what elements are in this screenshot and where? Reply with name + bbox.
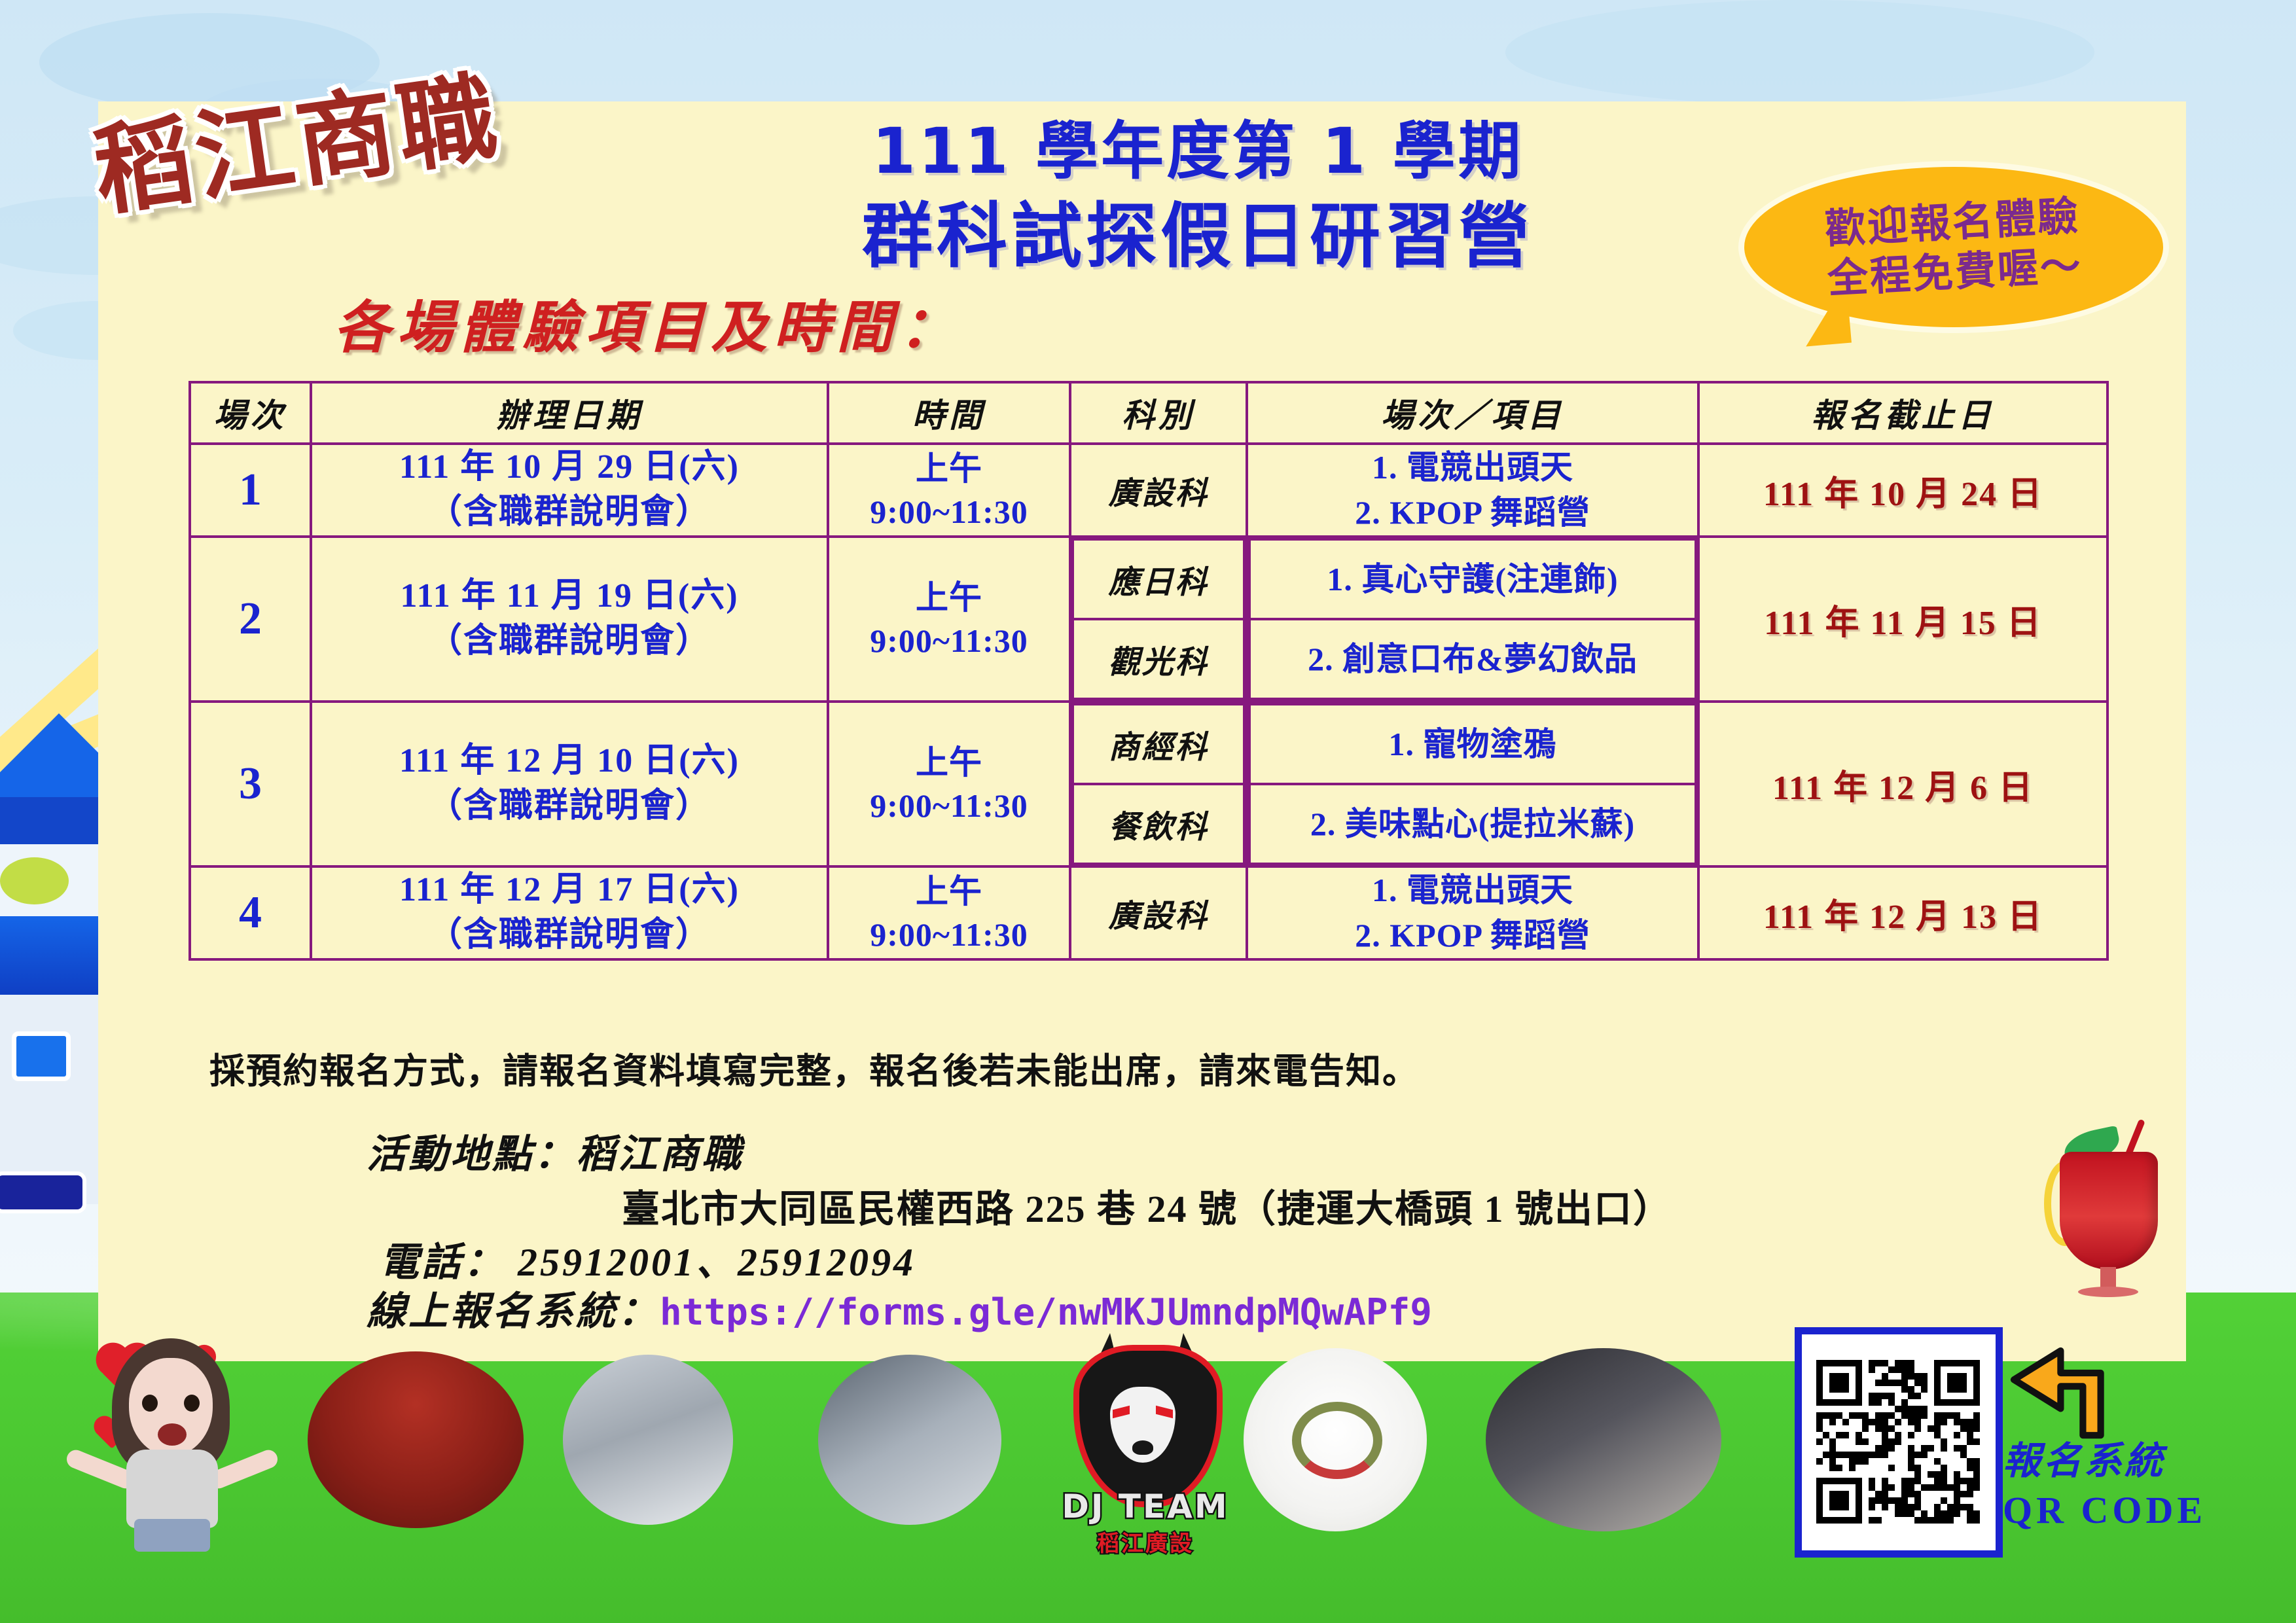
telephone-line: 電話： 25912001、25912094 [380,1230,916,1287]
table-row: 2111 年 11 月 19 日(六)（含職群說明會）上午9:00~11:30應… [190,537,2108,702]
address-line: 臺北市大同區民權西路 225 巷 24 號（捷運大橋頭 1 號出口） [622,1178,1672,1233]
cell-deadline: 111 年 11 月 15 日 [1698,537,2108,702]
item-line: 2. KPOP 舞蹈營 [1248,490,1697,535]
cocktail-drink-icon [2013,1106,2202,1302]
cell-deadline: 111 年 12 月 6 日 [1698,702,2108,866]
time-line-1: 上午 [829,870,1069,913]
cell-deadline: 111 年 12 月 13 日 [1698,866,2108,959]
time-line-2: 9:00~11:30 [829,619,1069,662]
cell-date: 111 年 12 月 17 日(六)（含職群說明會） [311,866,828,959]
cell-department: 廣設科 [1070,444,1247,537]
cell-time: 上午9:00~11:30 [828,444,1070,537]
photo-thumbnail-shimenawa [1244,1348,1427,1531]
time-line-2: 9:00~11:30 [829,784,1069,827]
date-line-1: 111 年 12 月 10 日(六) [312,739,827,784]
cell-items: 1. 電競出頭天2. KPOP 舞蹈營 [1247,444,1698,537]
photo-thumbnail-dance [1486,1348,1721,1531]
qr-label-line-2: QR CODE [2003,1486,2225,1535]
cell-department: 觀光科 [1073,619,1244,699]
dj-team-logo-sub: 稻江廣設 [1047,1525,1244,1558]
item-line: 2. KPOP 舞蹈營 [1248,913,1697,958]
cell-date: 111 年 11 月 19 日(六)（含職群說明會） [311,537,828,702]
cell-items-group: 1. 寵物塗鴉2. 美味點心(提拉米蘇) [1247,702,1698,866]
date-line-1: 111 年 12 月 17 日(六) [312,868,827,913]
cell-session-number: 4 [190,866,311,959]
date-line-2: （含職群說明會） [312,913,827,958]
column-header-date: 辦理日期 [311,382,828,444]
date-line-2: （含職群說明會） [312,619,827,664]
title-line-2: 群科試探假日研習營 [766,192,1630,282]
cell-date: 111 年 12 月 10 日(六)（含職群說明會） [311,702,828,866]
table-row: 4111 年 12 月 17 日(六)（含職群說明會）上午9:00~11:30廣… [190,866,2108,959]
cell-item: 2. 創意口布&夢幻飲品 [1249,619,1696,699]
schedule-table: 場次 辦理日期 時間 科別 場次／項目 報名截止日 1111 年 10 月 29… [188,381,2109,961]
promo-speech-bubble: 歡迎報名體驗 全程免費喔～ [1744,167,2163,327]
cell-items: 1. 電競出頭天2. KPOP 舞蹈營 [1247,866,1698,959]
cell-session-number: 2 [190,537,311,702]
cell-items-group: 1. 真心守護(注連飾)2. 創意口布&夢幻飲品 [1247,537,1698,702]
time-line-1: 上午 [829,741,1069,784]
time-line-2: 9:00~11:30 [829,490,1069,533]
cell-session-number: 3 [190,702,311,866]
cell-department: 餐飲科 [1073,784,1244,864]
item-line: 1. 電競出頭天 [1248,868,1697,913]
qr-code-image[interactable] [1795,1327,2003,1558]
column-header-deadline: 報名截止日 [1698,382,2108,444]
cell-time: 上午9:00~11:30 [828,866,1070,959]
item-line: 1. 電競出頭天 [1248,445,1697,490]
table-header-row: 場次 辦理日期 時間 科別 場次／項目 報名截止日 [190,382,2108,444]
time-line-1: 上午 [829,447,1069,490]
cell-department: 應日科 [1073,539,1244,619]
date-line-2: （含職群說明會） [312,490,827,535]
cell-date: 111 年 10 月 29 日(六)（含職群說明會） [311,444,828,537]
time-line-2: 9:00~11:30 [829,913,1069,956]
photo-thumbnail-pet-grooming [563,1355,733,1525]
cell-time: 上午9:00~11:30 [828,537,1070,702]
cell-department: 廣設科 [1070,866,1247,959]
cell-department-group: 應日科觀光科 [1070,537,1247,702]
section-subtitle: 各場體驗項目及時間： [334,281,962,363]
column-header-item: 場次／項目 [1247,382,1698,444]
time-line-1: 上午 [829,576,1069,619]
registration-note: 採預約報名方式，請報名資料填寫完整，報名後若未能出席，請來電告知。 [209,1042,1419,1094]
date-line-2: （含職群說明會） [312,784,827,829]
photo-thumbnail-classroom [818,1355,1001,1525]
date-line-1: 111 年 10 月 29 日(六) [312,445,827,490]
qr-label-line-1: 報名系統 [2003,1436,2225,1486]
cell-session-number: 1 [190,444,311,537]
cell-item: 2. 美味點心(提拉米蘇) [1249,784,1696,864]
page-title: 111 學年度第 1 學期 群科試探假日研習營 [766,111,1630,282]
cell-department: 商經科 [1073,704,1244,784]
column-header-session: 場次 [190,382,311,444]
cell-item: 1. 寵物塗鴉 [1249,704,1696,784]
photo-thumbnail-bartending [308,1351,524,1528]
column-header-time: 時間 [828,382,1070,444]
title-line-1: 111 學年度第 1 學期 [766,111,1630,192]
dj-team-logo-name: DJ TEAM [1047,1488,1244,1525]
table-row: 3111 年 12 月 10 日(六)（含職群說明會）上午9:00~11:30商… [190,702,2108,866]
cell-time: 上午9:00~11:30 [828,702,1070,866]
dj-team-logo: DJ TEAM 稻江廣設 [1047,1338,1244,1548]
table-row: 1111 年 10 月 29 日(六)（含職群說明會）上午9:00~11:30廣… [190,444,2108,537]
cell-department-group: 商經科餐飲科 [1070,702,1247,866]
cloud-shape [1505,0,2094,105]
avatar [69,1332,285,1548]
qr-code-label: 報名系統 QR CODE [2003,1436,2225,1535]
cell-item: 1. 真心守護(注連飾) [1249,539,1696,619]
date-line-1: 111 年 11 月 19 日(六) [312,574,827,619]
arrow-icon [2003,1329,2114,1440]
venue-line: 活動地點：稻江商職 [367,1122,744,1179]
column-header-department: 科別 [1070,382,1247,444]
cell-deadline: 111 年 10 月 24 日 [1698,444,2108,537]
